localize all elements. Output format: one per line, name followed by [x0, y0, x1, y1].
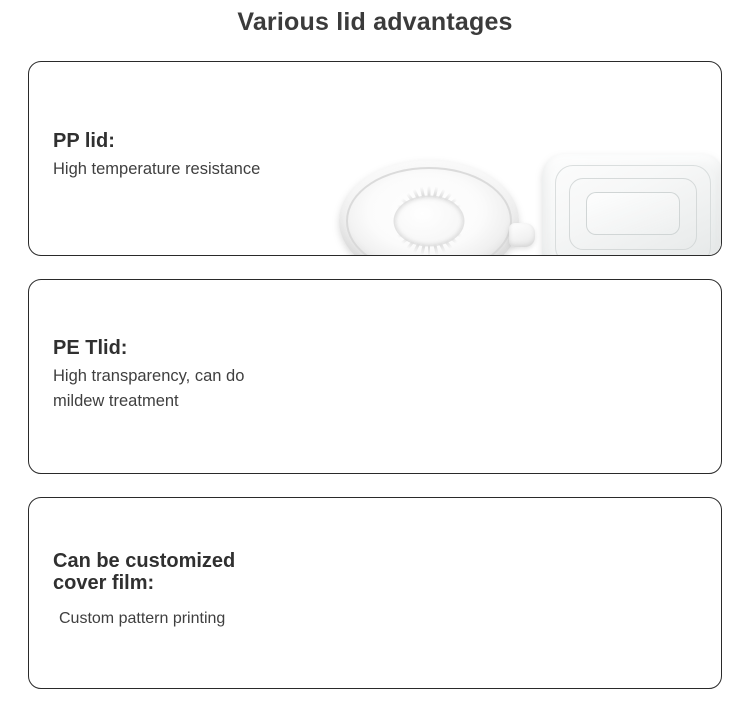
panel-pe-lid: PE Tlid: High transparency, can do milde…	[28, 279, 722, 474]
page-title: Various lid advantages	[0, 8, 750, 37]
panel-cover-film: Can be customized cover film: Custom pat…	[28, 497, 722, 689]
rectangular-pp-lid-ridge-inner	[586, 192, 681, 235]
panel-pe-text-block: PE Tlid: High transparency, can do milde…	[53, 337, 244, 414]
rectangular-pp-lid-image	[542, 154, 722, 256]
round-pp-lid-image	[339, 160, 519, 256]
panel-pp-description: High temperature resistance	[53, 157, 260, 182]
panel-pp-lid: PP lid: High temperature resistance	[28, 61, 722, 256]
round-pp-lid-center	[395, 197, 463, 246]
panel-pe-heading: PE Tlid:	[53, 337, 244, 359]
panel-film-heading: Can be customized cover film:	[53, 550, 235, 594]
panel-film-text-block: Can be customized cover film: Custom pat…	[53, 550, 235, 631]
panel-film-description: Custom pattern printing	[53, 606, 235, 631]
panel-pp-heading: PP lid:	[53, 130, 260, 152]
round-pp-lid-tab	[509, 223, 535, 247]
panel-pp-text-block: PP lid: High temperature resistance	[53, 130, 260, 182]
panel-pe-description: High transparency, can do mildew treatme…	[53, 364, 244, 414]
